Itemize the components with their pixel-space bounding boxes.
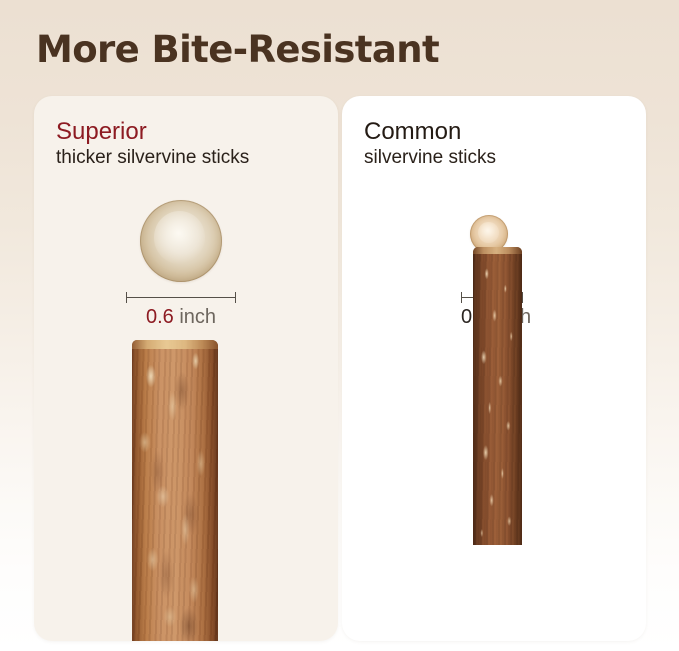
page-title: More Bite-Resistant xyxy=(36,28,439,71)
silvervine-stick-thin xyxy=(473,247,522,545)
panel-common-heading-block: Common silvervine sticks xyxy=(364,118,496,169)
stick-cross-section-large xyxy=(140,200,222,282)
dimension-cap-right xyxy=(235,292,236,303)
panel-superior-heading-block: Superior thicker silvervine sticks xyxy=(56,118,249,169)
dimension-value-large: 0.6 xyxy=(146,306,174,328)
panel-superior-subheading: thicker silvervine sticks xyxy=(56,146,249,169)
comparison-poster: More Bite-Resistant Superior thicker sil… xyxy=(0,0,679,651)
dimension-line-large xyxy=(126,292,236,304)
panel-common-subheading: silvervine sticks xyxy=(364,146,496,169)
dimension-bar xyxy=(126,297,236,298)
panel-superior-heading: Superior xyxy=(56,118,249,145)
panel-superior: Superior thicker silvervine sticks 0.6 i… xyxy=(34,96,338,641)
silvervine-stick-thick xyxy=(132,340,218,641)
dimension-unit-large: inch xyxy=(179,306,216,328)
panel-common-heading: Common xyxy=(364,118,496,145)
dimension-label-large: 0.6 inch xyxy=(126,306,236,329)
dimension-cap-right xyxy=(522,292,523,303)
